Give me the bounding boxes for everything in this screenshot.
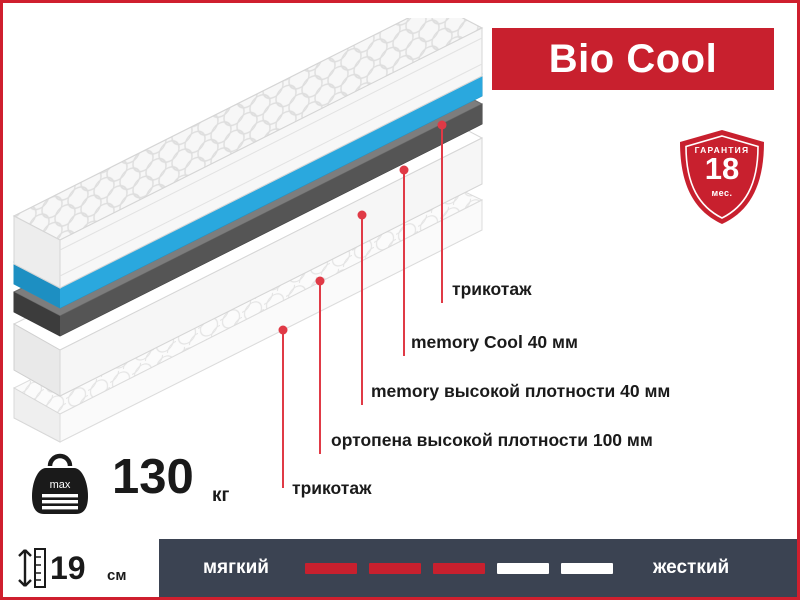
firmness-hard-label: жесткий [653, 557, 729, 579]
callout-label-knit-bottom: трикотаж [292, 478, 372, 499]
firmness-segment-2 [369, 563, 421, 574]
callout-label-orthofoam: ортопена высокой плотности 100 мм [331, 430, 653, 451]
max-weight-block: max 130 кг [28, 452, 258, 524]
warranty-badge: ГАРАНТИЯ 18 мес. [676, 128, 768, 226]
warranty-unit: мес. [676, 188, 768, 198]
height-value: 19 [50, 550, 86, 586]
brand-banner: Bio Cool [492, 28, 774, 90]
callout-label-memory-cool: memory Cool 40 мм [411, 332, 578, 353]
firmness-segment-3 [433, 563, 485, 574]
callout-label-memory-hd: memory высокой плотности 40 мм [371, 381, 670, 402]
callout-label-knit-top: трикотаж [452, 279, 532, 300]
firmness-segment-5 [561, 563, 613, 574]
firmness-segment-1 [305, 563, 357, 574]
max-weight-value: 130 [112, 450, 194, 504]
svg-text:max: max [50, 479, 71, 491]
mattress-illustration [0, 18, 500, 488]
firmness-scale [305, 563, 613, 574]
firmness-segment-4 [497, 563, 549, 574]
brand-title: Bio Cool [549, 37, 717, 82]
weight-icon: max [28, 452, 92, 520]
ruler-icon [17, 546, 47, 590]
warranty-value: 18 [676, 153, 768, 185]
bottom-bar: 19 см мягкий жесткий [3, 539, 797, 597]
height-unit: см [107, 567, 126, 584]
height-block: 19 см [3, 539, 159, 597]
max-weight-unit: кг [212, 485, 229, 507]
firmness-soft-label: мягкий [203, 557, 269, 579]
